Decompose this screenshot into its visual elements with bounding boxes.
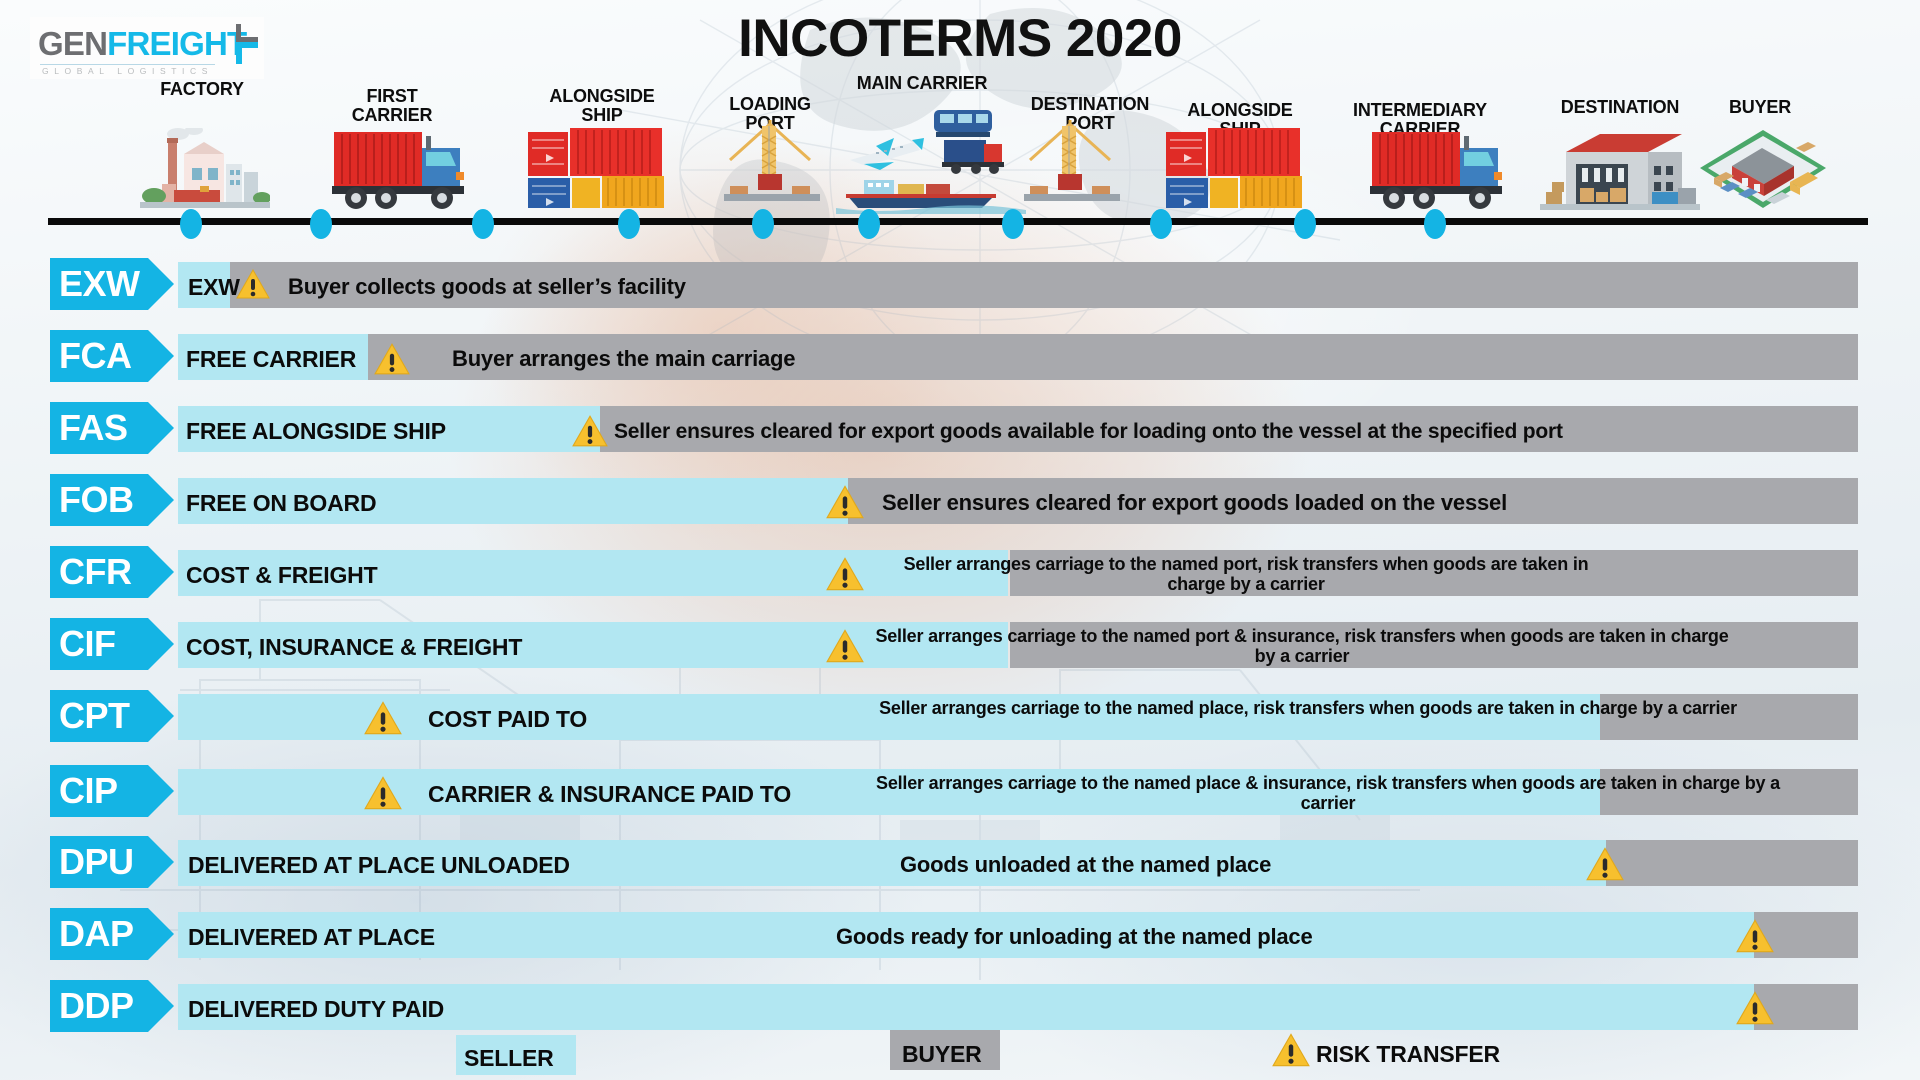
term-name-cif: COST, INSURANCE & FREIGHT <box>186 634 522 661</box>
timeline-dot-main-carrier[interactable] <box>752 209 774 239</box>
stage-text: FACTORY <box>160 79 244 99</box>
stage-label-factory: FACTORY <box>122 80 282 99</box>
legend-label-risk-transfer: RISK TRANSFER <box>1316 1041 1500 1068</box>
term-row-cpt[interactable]: CPT COST PAID TO Seller arranges carriag… <box>0 690 1920 746</box>
term-desc-dap: Goods ready for unloading at the named p… <box>836 924 1313 950</box>
stage-text: MAIN CARRIER <box>857 73 988 93</box>
term-code-fca: FCA <box>50 330 148 382</box>
timeline-dot-alongside-ship-2[interactable] <box>1002 209 1024 239</box>
term-name-ddp: DELIVERED DUTY PAID <box>188 996 444 1023</box>
term-row-dap[interactable]: DAP DELIVERED AT PLACE Goods ready for u… <box>0 908 1920 964</box>
port-crane-icon <box>1016 116 1126 212</box>
buyer-bar <box>1754 984 1858 1030</box>
timeline-dot-loading-port[interactable] <box>618 209 640 239</box>
stage-text: DESTINATION <box>1561 97 1679 117</box>
term-name-dap: DELIVERED AT PLACE <box>188 924 435 951</box>
term-row-fob[interactable]: FOB FREE ON BOARD Seller ensures cleared… <box>0 474 1920 530</box>
logo-word-gen: GEN <box>38 25 107 62</box>
infographic-canvas: INCOTERMS 2020 GENFREIGHT GLOBAL LOGISTI… <box>0 0 1920 1080</box>
term-code-dpu: DPU <box>50 836 148 888</box>
stage-label-destination: DESTINATION <box>1518 98 1722 117</box>
term-name-cpt: COST PAID TO <box>428 706 587 733</box>
stage-label-main-carrier: MAIN CARRIER <box>822 74 1022 93</box>
truck-icon <box>1368 118 1508 212</box>
term-code-exw: EXW <box>50 258 148 310</box>
term-desc-cif: Seller arranges carriage to the named po… <box>874 626 1730 667</box>
term-name-fas: FREE ALONGSIDE SHIP <box>186 418 446 445</box>
term-code-dap: DAP <box>50 908 148 960</box>
factory-icon <box>140 128 270 212</box>
timeline-dot-intermediary-carrier[interactable] <box>1150 209 1172 239</box>
term-code-fas: FAS <box>50 402 148 454</box>
term-name-fca: FREE CARRIER <box>186 346 356 373</box>
term-desc-fca: Buyer arranges the main carriage <box>452 346 795 372</box>
term-desc-cip: Seller arranges carriage to the named pl… <box>876 773 1780 814</box>
timeline-dot-destination[interactable] <box>1294 209 1316 239</box>
term-row-cfr[interactable]: CFR COST & FREIGHT Seller arranges carri… <box>0 546 1920 602</box>
stage-label-buyer: BUYER <box>1700 98 1820 117</box>
term-code-cpt: CPT <box>50 690 148 742</box>
timeline-dot-destination-port[interactable] <box>858 209 880 239</box>
truck-part <box>942 140 1004 174</box>
term-code-ddp: DDP <box>50 980 148 1032</box>
term-row-fas[interactable]: FAS FREE ALONGSIDE SHIP Seller ensures c… <box>0 402 1920 458</box>
term-code-fob: FOB <box>50 474 148 526</box>
term-row-ddp[interactable]: DDP DELIVERED DUTY PAID <box>0 980 1920 1036</box>
term-name-cfr: COST & FREIGHT <box>186 562 377 589</box>
term-code-cfr: CFR <box>50 546 148 598</box>
term-name-exw: EXW <box>188 274 240 301</box>
term-desc-exw: Buyer collects goods at seller’s facilit… <box>288 274 686 300</box>
stage-text: BUYER <box>1729 97 1791 117</box>
container-stack-icon <box>1166 114 1316 212</box>
stage-label-first-carrier: FIRST CARRIER <box>312 68 472 125</box>
term-name-cip: CARRIER & INSURANCE PAID TO <box>428 781 791 808</box>
term-row-dpu[interactable]: DPU DELIVERED AT PLACE UNLOADED Goods un… <box>0 836 1920 892</box>
term-row-cip[interactable]: CIP CARRIER & INSURANCE PAID TO Seller a… <box>0 765 1920 821</box>
brand-logo[interactable]: GENFREIGHT GLOBAL LOGISTICS <box>30 17 264 79</box>
plane-train-ship-icon <box>836 104 1026 214</box>
term-desc-cfr: Seller arranges carriage to the named po… <box>874 554 1618 595</box>
legend-risk-transfer-icon <box>1272 1032 1310 1068</box>
term-code-cip: CIP <box>50 765 148 817</box>
page-title: INCOTERMS 2020 <box>0 8 1920 69</box>
term-name-fob: FREE ON BOARD <box>186 490 376 517</box>
legend-label-seller: SELLER <box>464 1045 554 1072</box>
legend-label-buyer: BUYER <box>902 1041 982 1068</box>
warehouse-icon <box>1540 130 1700 214</box>
term-desc-cpt: Seller arranges carriage to the named pl… <box>876 698 1740 718</box>
truck-icon <box>330 118 470 212</box>
term-desc-fob: Seller ensures cleared for export goods … <box>882 490 1507 516</box>
timeline-dot-alongside-ship-1[interactable] <box>472 209 494 239</box>
port-crane-icon <box>716 116 826 212</box>
term-desc-fas: Seller ensures cleared for export goods … <box>614 420 1563 444</box>
term-row-exw[interactable]: EXW EXW Buyer collects goods at seller’s… <box>0 258 1920 314</box>
buyer-depot-icon <box>1698 126 1828 214</box>
term-row-fca[interactable]: FCA FREE CARRIER Buyer arranges the main… <box>0 330 1920 386</box>
term-row-cif[interactable]: CIF COST, INSURANCE & FREIGHT Seller arr… <box>0 618 1920 674</box>
timeline-dot-buyer[interactable] <box>1424 209 1446 239</box>
term-name-dpu: DELIVERED AT PLACE UNLOADED <box>188 852 570 879</box>
plane-part <box>850 138 924 170</box>
logo-plus-icon <box>214 22 260 68</box>
train-part <box>934 110 992 137</box>
timeline-dot-first-carrier[interactable] <box>310 209 332 239</box>
logo-divider <box>40 64 215 65</box>
logo-tagline: GLOBAL LOGISTICS <box>42 66 213 76</box>
buyer-bar <box>1754 912 1858 958</box>
buyer-bar <box>1606 840 1858 886</box>
timeline-dot-factory[interactable] <box>180 209 202 239</box>
term-desc-dpu: Goods unloaded at the named place <box>900 852 1271 878</box>
container-stack-icon <box>528 114 678 212</box>
term-code-cif: CIF <box>50 618 148 670</box>
